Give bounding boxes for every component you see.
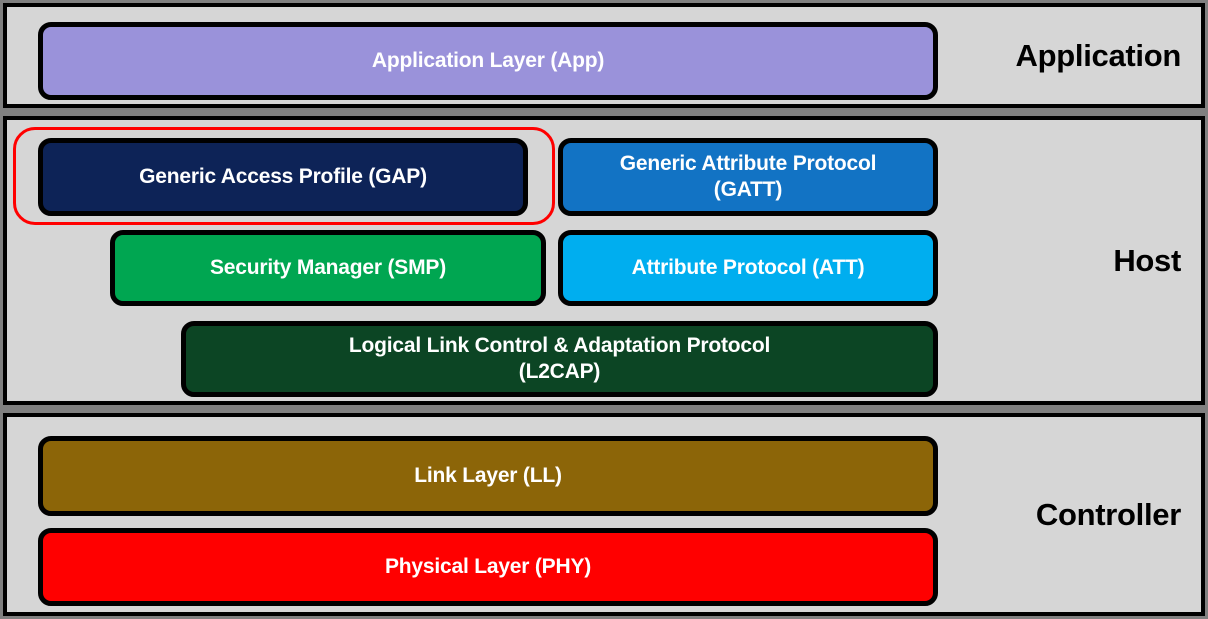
- box-security-manager[interactable]: Security Manager (SMP): [110, 230, 546, 306]
- box-gatt-label-line1: Generic Attribute Protocol: [620, 152, 877, 175]
- tier-label-controller: Controller: [1036, 497, 1181, 533]
- tier-label-host: Host: [1113, 243, 1181, 279]
- box-l2cap-label-line2: (L2CAP): [519, 360, 600, 383]
- box-generic-access-profile[interactable]: Generic Access Profile (GAP): [38, 138, 528, 216]
- tier-application: Application Layer (App) Application: [3, 3, 1205, 108]
- ble-protocol-stack-diagram: Application Layer (App) Application Gene…: [0, 0, 1208, 619]
- box-l2cap-label: Logical Link Control & Adaptation Protoc…: [349, 333, 770, 384]
- box-generic-attribute-protocol[interactable]: Generic Attribute Protocol (GATT): [558, 138, 938, 216]
- box-link-layer[interactable]: Link Layer (LL): [38, 436, 938, 516]
- box-l2cap[interactable]: Logical Link Control & Adaptation Protoc…: [181, 321, 938, 397]
- box-gatt-label-line2: (GATT): [714, 178, 782, 201]
- box-l2cap-label-line1: Logical Link Control & Adaptation Protoc…: [349, 334, 770, 357]
- tier-label-application: Application: [1016, 38, 1181, 74]
- box-attribute-protocol[interactable]: Attribute Protocol (ATT): [558, 230, 938, 306]
- box-gatt-label: Generic Attribute Protocol (GATT): [620, 151, 877, 202]
- box-application-layer[interactable]: Application Layer (App): [38, 22, 938, 100]
- tier-controller: Link Layer (LL) Physical Layer (PHY) Con…: [3, 413, 1205, 616]
- tier-host: Generic Access Profile (GAP) Generic Att…: [3, 116, 1205, 405]
- box-physical-layer[interactable]: Physical Layer (PHY): [38, 528, 938, 606]
